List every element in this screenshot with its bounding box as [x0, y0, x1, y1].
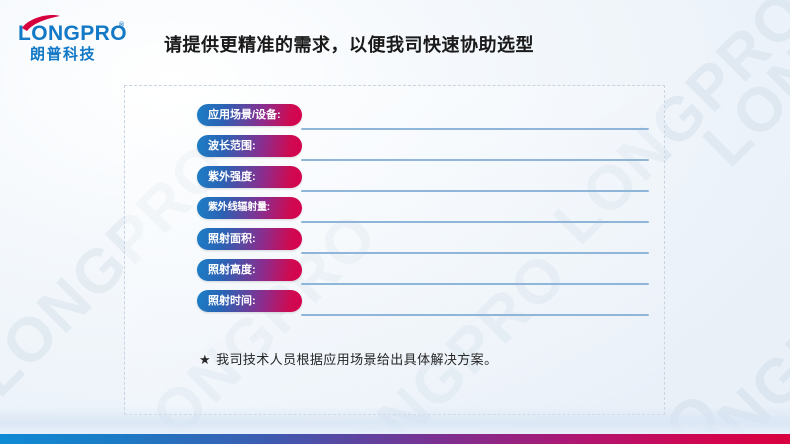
bottom-gradient-bar [0, 434, 790, 444]
field-row: 照射面积: [197, 228, 627, 259]
field-label-pill: 紫外强度: [197, 166, 302, 188]
field-label-text: 波长范围: [208, 141, 256, 152]
slide-canvas: LONGPRO LONGPRO LONGPRO LONGPRO LONGPRO … [0, 0, 790, 444]
slide-header: LONGPRO ® 朗普科技 请提供更精准的需求，以便我司快速协助选型 [0, 0, 790, 80]
svg-text:朗普科技: 朗普科技 [30, 45, 96, 63]
field-label-pill: 波长范围: [197, 135, 302, 157]
field-label-pill: 照射时间: [197, 290, 302, 312]
requirements-form-panel: 应用场景/设备: 波长范围: 紫外强度: 紫外线辐射量: [124, 85, 665, 415]
field-label-text: 紫外线辐射量: [208, 203, 270, 213]
field-label-text: 照射时间: [208, 296, 256, 307]
field-input-line[interactable] [301, 283, 649, 285]
field-label-pill: 紫外线辐射量: [197, 197, 302, 219]
svg-text:LONGPRO: LONGPRO [18, 22, 127, 45]
field-input-line[interactable] [301, 221, 649, 223]
field-input-line[interactable] [301, 252, 649, 254]
field-label-pill: 照射面积: [197, 228, 302, 250]
footnote-text: 我司技术人员根据应用场景给出具体解决方案。 [216, 352, 497, 367]
field-row: 应用场景/设备: [197, 104, 627, 135]
field-row: 紫外强度: [197, 166, 627, 197]
field-label-text: 应用场景/设备: [208, 110, 281, 121]
svg-text:®: ® [119, 21, 125, 29]
field-list: 应用场景/设备: 波长范围: 紫外强度: 紫外线辐射量: [197, 104, 627, 321]
field-label-text: 照射高度: [208, 265, 256, 276]
footnote: ★我司技术人员根据应用场景给出具体解决方案。 [199, 349, 497, 368]
field-row: 紫外线辐射量: [197, 197, 627, 228]
field-label-pill: 应用场景/设备: [197, 104, 302, 126]
bottom-band [0, 406, 790, 434]
field-row: 波长范围: [197, 135, 627, 166]
field-row: 照射高度: [197, 259, 627, 290]
field-input-line[interactable] [301, 159, 649, 161]
field-row: 照射时间: [197, 290, 627, 321]
field-input-line[interactable] [301, 314, 649, 316]
field-label-text: 紫外强度: [208, 172, 256, 183]
field-label-pill: 照射高度: [197, 259, 302, 281]
field-input-line[interactable] [301, 128, 649, 130]
field-label-text: 照射面积: [208, 234, 256, 245]
longpro-logo: LONGPRO ® 朗普科技 [16, 13, 132, 63]
field-input-line[interactable] [301, 190, 649, 192]
page-title: 请提供更精准的需求，以便我司快速协助选型 [164, 31, 534, 57]
star-icon: ★ [199, 352, 211, 367]
